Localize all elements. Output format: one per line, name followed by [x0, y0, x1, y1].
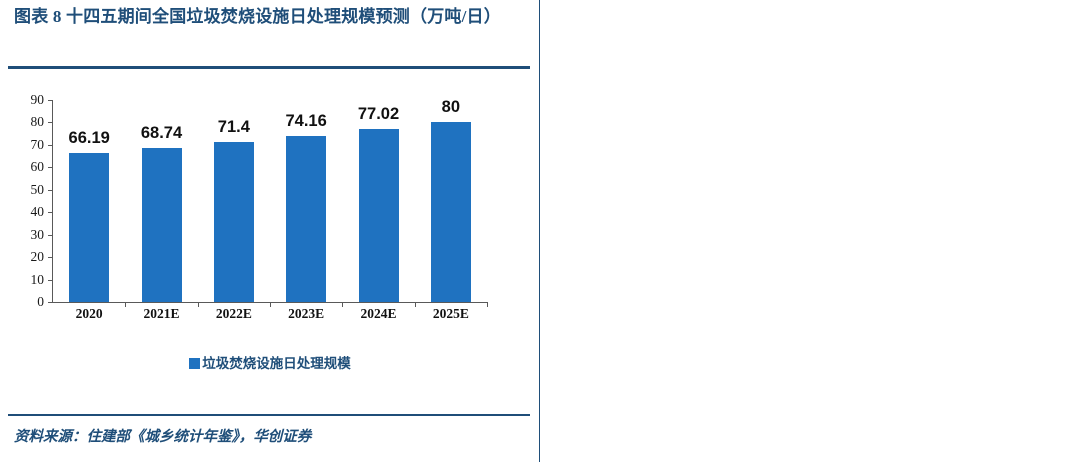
left-ytick-0: 0 [18, 296, 44, 308]
bar [214, 142, 254, 302]
left-ytick-mark [48, 212, 52, 213]
bar-value-label: 80 [411, 98, 491, 117]
bar [142, 148, 182, 302]
category-label: 2022E [194, 306, 274, 322]
legend-swatch-icon [189, 358, 200, 369]
left-plot-area: 66.1968.7471.474.1677.0280 [53, 100, 487, 302]
left-ytick-50: 50 [18, 184, 44, 196]
left-ytick-mark [48, 190, 52, 191]
left-category-axis: 20202021E2022E2023E2024E2025E [53, 306, 487, 328]
x-tick-mark [342, 302, 343, 307]
bar [286, 136, 326, 302]
left-ytick-90: 90 [18, 94, 44, 106]
left-bottom-rule [8, 414, 530, 416]
left-ytick-mark [48, 122, 52, 123]
left-ytick-mark [48, 257, 52, 258]
left-top-rule [8, 66, 530, 69]
left-ytick-mark [48, 100, 52, 101]
left-ytick-30: 30 [18, 229, 44, 241]
left-chart-legend: 垃圾焚烧设施日处理规模 [0, 352, 540, 372]
bar-value-label: 68.74 [122, 124, 202, 143]
left-ytick-40: 40 [18, 206, 44, 218]
left-source-note: 资料来源：住建部《城乡统计年鉴》，华创证券 [14, 425, 311, 446]
left-ytick-80: 80 [18, 116, 44, 128]
bar [359, 129, 399, 302]
left-ytick-mark [48, 302, 52, 303]
right-panel: 图表 9 垃圾焚烧项目长期规划新增项目与 2019 与 2020 新增项目之和对… [540, 0, 1080, 462]
bar-value-label: 77.02 [339, 105, 419, 124]
bar-value-label: 71.4 [194, 118, 274, 137]
left-ytick-70: 70 [18, 139, 44, 151]
x-tick-mark [487, 302, 488, 307]
left-bar-chart: 90 80 70 60 50 40 30 20 10 0 66.1968.747… [18, 100, 518, 330]
left-ytick-mark [48, 167, 52, 168]
x-tick-mark [415, 302, 416, 307]
category-label: 2023E [266, 306, 346, 322]
x-tick-mark [198, 302, 199, 307]
left-legend-label: 垃圾焚烧设施日处理规模 [202, 356, 351, 371]
left-ytick-mark [48, 280, 52, 281]
left-figure-title: 图表 8 十四五期间全国垃圾焚烧设施日处理规模预测（万吨/日） [14, 4, 526, 30]
bar-value-label: 66.19 [49, 129, 129, 148]
category-label: 2020 [49, 306, 129, 322]
category-label: 2025E [411, 306, 491, 322]
category-label: 2021E [122, 306, 202, 322]
x-tick-mark [270, 302, 271, 307]
slide-page: 图表 8 十四五期间全国垃圾焚烧设施日处理规模预测（万吨/日） 90 80 70… [0, 0, 1080, 462]
bar-value-label: 74.16 [266, 112, 346, 131]
left-ytick-20: 20 [18, 251, 44, 263]
bar [69, 153, 109, 302]
category-label: 2024E [339, 306, 419, 322]
left-ytick-mark [48, 235, 52, 236]
left-panel: 图表 8 十四五期间全国垃圾焚烧设施日处理规模预测（万吨/日） 90 80 70… [0, 0, 540, 462]
bar [431, 122, 471, 302]
x-tick-mark [125, 302, 126, 307]
left-ytick-60: 60 [18, 161, 44, 173]
left-ytick-10: 10 [18, 274, 44, 286]
